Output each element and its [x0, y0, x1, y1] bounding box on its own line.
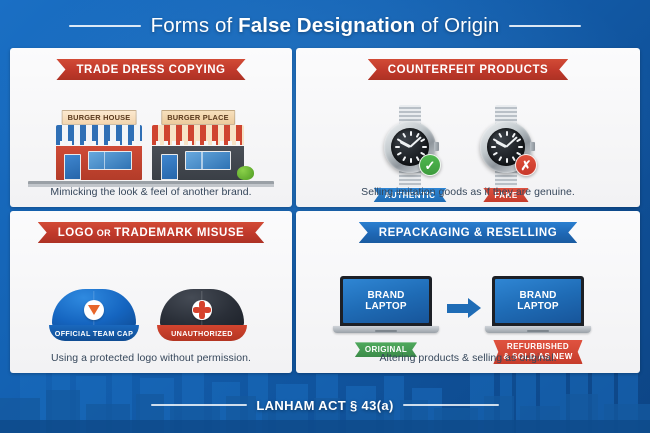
- watch-case: ✓: [384, 121, 436, 173]
- storefront-burger-place: BURGER PLACE: [152, 110, 244, 180]
- card-repackaging-and-reselling[interactable]: REPACKAGING & RESELLING BRAND LAPTOP ORI…: [296, 211, 640, 373]
- card-caption: Mimicking the look & feel of another bra…: [10, 186, 292, 198]
- card-trade-dress-copying[interactable]: TRADE DRESS COPYING BURGER HOUSE BURGER: [10, 48, 292, 207]
- footer-rule-right: [403, 404, 499, 406]
- page-title-tail: of Origin: [415, 14, 499, 37]
- card-ribbon-label-b: TRADEMARK MISUSE: [114, 227, 244, 239]
- laptop-screen-line-1: BRAND: [519, 290, 556, 301]
- storefront-window: [88, 151, 132, 170]
- storefront-facade: [56, 146, 142, 180]
- laptop-screen-line-2: LAPTOP: [517, 301, 559, 312]
- storefront-door: [64, 154, 81, 180]
- watch-hour-hand: [496, 141, 507, 148]
- laptop-tag-line-1: REFURBISHED: [503, 342, 572, 352]
- storefront-sign: BURGER PLACE: [161, 110, 235, 125]
- card-ribbon-label: REPACKAGING & RESELLING: [359, 222, 578, 243]
- footer-statute-label: LANHAM ACT § 43(a): [256, 398, 393, 413]
- laptop-base: [333, 326, 439, 333]
- laptop-refurbished: BRAND LAPTOP REFURBISHED & SOLD AS NEW: [492, 276, 584, 333]
- card-caption: Selling imitation goods as if they are g…: [296, 186, 640, 198]
- laptop-original: BRAND LAPTOP ORIGINAL: [340, 276, 432, 333]
- card-counterfeit-products[interactable]: COUNTERFEIT PRODUCTS: [296, 48, 640, 207]
- cards-grid: TRADE DRESS COPYING BURGER HOUSE BURGER: [10, 48, 640, 373]
- cap-label: OFFICIAL TEAM CAP: [52, 329, 136, 338]
- watch-hour-hand: [400, 141, 411, 148]
- watch-case: ✗: [480, 121, 532, 173]
- page-title: Forms of False Designation of Origin: [151, 14, 500, 38]
- page-title-light: Forms of: [151, 14, 238, 37]
- cross-icon: ✗: [515, 154, 537, 176]
- card-ribbon-label: TRADE DRESS COPYING: [56, 59, 245, 80]
- storefront-door: [161, 154, 178, 180]
- poster-header: Forms of False Designation of Origin: [0, 8, 650, 44]
- storefront-burger-house: BURGER HOUSE: [56, 110, 142, 180]
- header-rule-left: [69, 25, 141, 27]
- arrow-right-icon: [447, 298, 481, 318]
- laptop-screen: BRAND LAPTOP: [492, 276, 584, 326]
- storefront-sign: BURGER HOUSE: [62, 110, 137, 125]
- check-icon: ✓: [419, 154, 441, 176]
- card-ribbon-label: COUNTERFEIT PRODUCTS: [368, 59, 569, 80]
- storefront-facade: [152, 146, 244, 180]
- watch-fake: ✗ FAKE: [478, 121, 534, 173]
- awning-striped: [56, 125, 142, 141]
- laptop-screen-line-2: LAPTOP: [365, 301, 407, 312]
- poster-footer: LANHAM ACT § 43(a): [0, 377, 650, 433]
- cap-label: UNAUTHORIZED: [160, 329, 244, 338]
- card-ribbon-label-a: LOGO: [58, 227, 94, 239]
- bush-decoration: [237, 166, 254, 180]
- cap-crown: [52, 289, 136, 329]
- card-ribbon: LOGO OR TRADEMARK MISUSE: [38, 222, 265, 243]
- card-caption: Using a protected logo without permissio…: [10, 352, 292, 364]
- card-logo-or-trademark-misuse[interactable]: LOGO OR TRADEMARK MISUSE OFFICIAL TEAM C…: [10, 211, 292, 373]
- laptop-screen-line-1: BRAND: [367, 290, 404, 301]
- page-title-bold: False Designation: [238, 14, 415, 37]
- cap-crown: [160, 289, 244, 329]
- card-caption: Altering products & selling as original.: [296, 352, 640, 364]
- card-ribbon-label-or: OR: [97, 228, 111, 238]
- cap-official-team: OFFICIAL TEAM CAP: [52, 289, 136, 341]
- watch-authentic: ✓ AUTHENTIC: [382, 121, 438, 173]
- hourglass-icon: [84, 300, 104, 320]
- laptop-base: [485, 326, 591, 333]
- cap-unauthorized: UNAUTHORIZED: [160, 289, 244, 341]
- pinwheel-icon: [192, 300, 212, 320]
- laptop-screen: BRAND LAPTOP: [340, 276, 432, 326]
- header-rule-right: [509, 25, 581, 27]
- infographic-poster: Forms of False Designation of Origin TRA…: [0, 0, 650, 433]
- storefront-window: [185, 151, 231, 170]
- awning-striped: [152, 125, 244, 141]
- footer-rule-left: [151, 404, 247, 406]
